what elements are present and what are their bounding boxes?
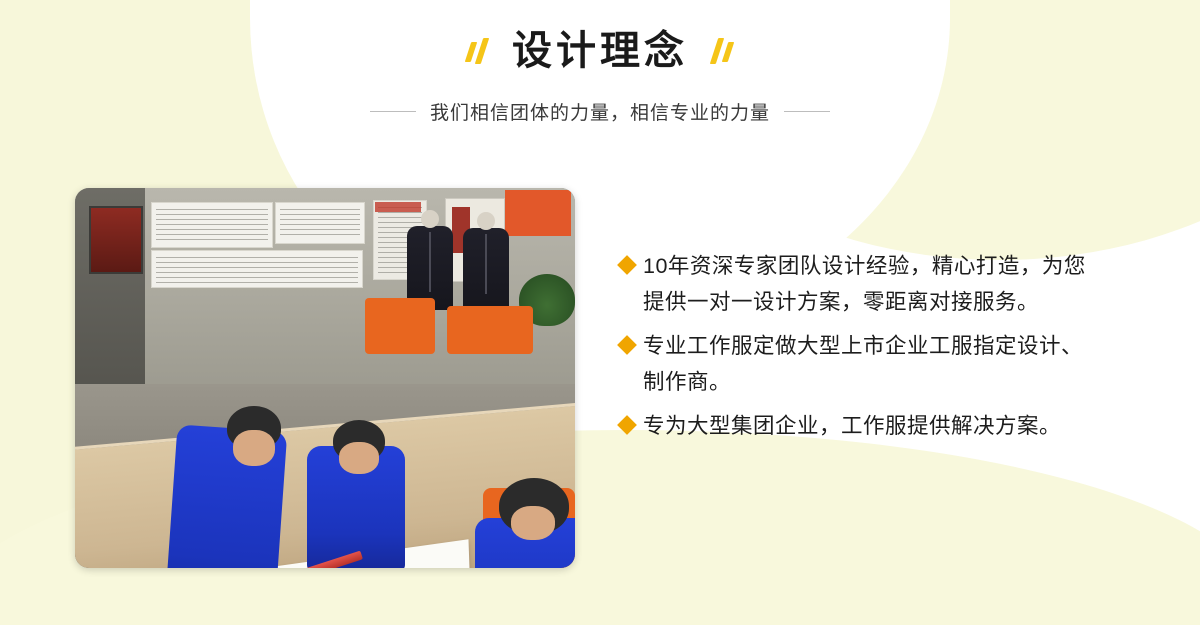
diamond-bullet-icon	[617, 255, 637, 275]
photo-poster-3	[151, 250, 363, 288]
photo-chair-1	[365, 298, 435, 354]
page-title: 设计理念	[512, 31, 688, 71]
photo-worker-3-face	[511, 506, 555, 540]
team-photo	[75, 188, 575, 568]
subtitle-dash-right-icon	[784, 111, 830, 112]
photo-mannequin-1-head	[421, 210, 439, 228]
page-subtitle: 我们相信团体的力量，相信专业的力量	[430, 98, 770, 125]
subtitle-row: 我们相信团体的力量，相信专业的力量	[0, 98, 1200, 125]
feature-text: 专业工作服定做大型上市企业工服指定设计、 制作商。	[643, 328, 1083, 400]
team-photo-illustration	[75, 188, 575, 568]
slash-ornament-left-icon	[464, 38, 490, 64]
feature-line: 提供一对一设计方案，零距离对接服务。	[643, 290, 1039, 314]
feature-line: 专为大型集团企业，工作服提供解决方案。	[643, 414, 1061, 438]
feature-line: 专业工作服定做大型上市企业工服指定设计、	[643, 334, 1083, 358]
photo-wall-frame	[89, 206, 143, 274]
promo-page: 设计理念 我们相信团体的力量，相信专业的力量	[0, 0, 1200, 625]
photo-mannequin-2-head	[477, 212, 495, 230]
photo-mannequin-2	[463, 228, 509, 312]
photo-worker-2-face	[339, 442, 379, 474]
feature-text: 专为大型集团企业，工作服提供解决方案。	[643, 408, 1061, 444]
title-row: 设计理念	[0, 0, 1200, 80]
feature-line: 10年资深专家团队设计经验，精心打造，为您	[643, 254, 1086, 278]
photo-poster-2	[275, 202, 365, 244]
slash-ornament-right-icon	[710, 38, 736, 64]
photo-chair-2	[447, 306, 533, 354]
subtitle-dash-left-icon	[370, 111, 416, 112]
feature-list: 10年资深专家团队设计经验，精心打造，为您 提供一对一设计方案，零距离对接服务。…	[620, 248, 1160, 452]
photo-poster-1	[151, 202, 273, 248]
photo-worker-1-face	[233, 430, 275, 466]
diamond-bullet-icon	[617, 415, 637, 435]
diamond-bullet-icon	[617, 335, 637, 355]
feature-line: 制作商。	[643, 370, 731, 394]
photo-orange-board	[505, 190, 571, 236]
feature-item: 10年资深专家团队设计经验，精心打造，为您 提供一对一设计方案，零距离对接服务。	[620, 248, 1160, 320]
feature-item: 专为大型集团企业，工作服提供解决方案。	[620, 408, 1160, 444]
photo-poster-red-mark	[375, 202, 421, 212]
feature-item: 专业工作服定做大型上市企业工服指定设计、 制作商。	[620, 328, 1160, 400]
page-header: 设计理念 我们相信团体的力量，相信专业的力量	[0, 0, 1200, 125]
feature-text: 10年资深专家团队设计经验，精心打造，为您 提供一对一设计方案，零距离对接服务。	[643, 248, 1086, 320]
